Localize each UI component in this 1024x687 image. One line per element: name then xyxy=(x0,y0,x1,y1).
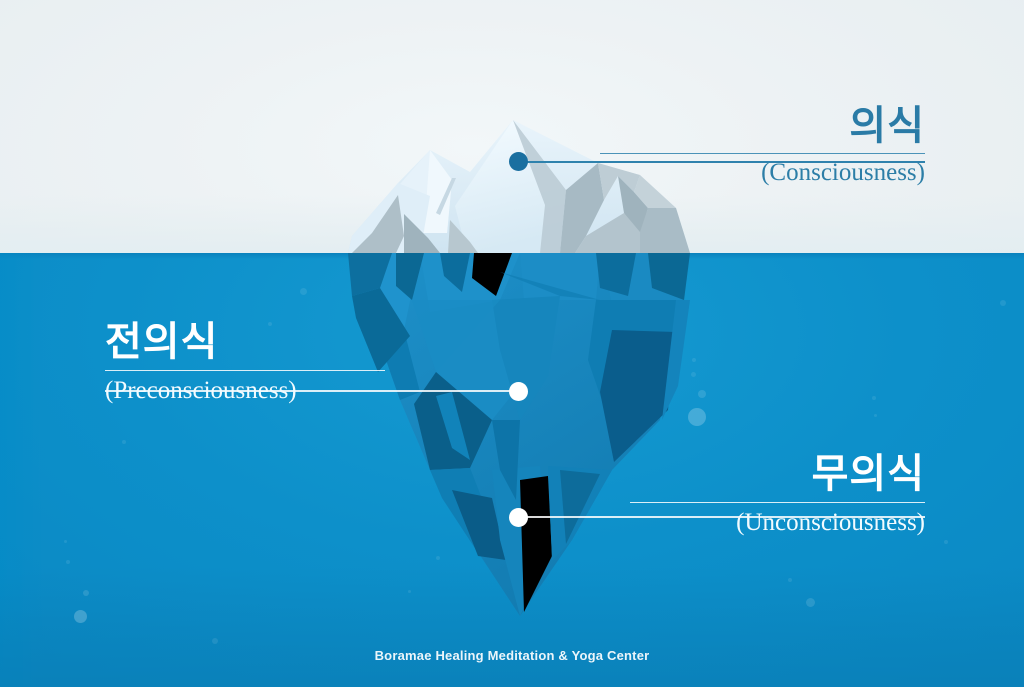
preconsciousness-label-korean: 전의식 xyxy=(105,320,385,364)
bubble xyxy=(212,638,218,644)
preconsciousness-label-english: (Preconsciousness) xyxy=(105,376,385,406)
bubble xyxy=(691,372,696,377)
bubble xyxy=(688,408,706,426)
iceberg-below-water xyxy=(348,253,690,616)
preconsciousness-rule xyxy=(105,370,385,371)
bubble xyxy=(74,610,87,623)
bubble xyxy=(436,556,440,560)
bubble xyxy=(300,288,307,295)
consciousness-label-english: (Consciousness) xyxy=(600,158,925,188)
bubble xyxy=(806,598,815,607)
bubble xyxy=(122,440,126,444)
callout-consciousness: 의식 (Consciousness) xyxy=(600,104,925,188)
sub-tail-right-dark xyxy=(560,470,600,544)
bubble xyxy=(1000,300,1006,306)
footer-credit: Boramae Healing Meditation & Yoga Center xyxy=(0,648,1024,663)
unconsciousness-label-korean: 무의식 xyxy=(630,452,925,496)
consciousness-rule xyxy=(600,153,925,154)
bubble xyxy=(874,414,877,417)
bubble xyxy=(692,358,696,362)
bubble xyxy=(408,590,411,593)
consciousness-label-korean: 의식 xyxy=(600,104,925,148)
consciousness-marker-dot[interactable] xyxy=(509,152,528,171)
bubble xyxy=(788,578,792,582)
callout-preconsciousness: 전의식 (Preconsciousness) xyxy=(105,320,385,406)
unconsciousness-label-english: (Unconsciousness) xyxy=(630,508,925,538)
ice-shadow-facet-e xyxy=(640,208,690,253)
bubble xyxy=(944,540,948,544)
preconsciousness-marker-dot[interactable] xyxy=(509,382,528,401)
bubble xyxy=(64,540,67,543)
unconsciousness-marker-dot[interactable] xyxy=(509,508,528,527)
unconsciousness-rule xyxy=(630,502,925,503)
bubble xyxy=(83,590,89,596)
bubble xyxy=(872,396,876,400)
bubble xyxy=(66,560,70,564)
bubble xyxy=(698,390,706,398)
callout-unconsciousness: 무의식 (Unconsciousness) xyxy=(630,452,925,538)
iceberg-diagram: 의식 (Consciousness) 전의식 (Preconsciousness… xyxy=(0,0,1024,687)
